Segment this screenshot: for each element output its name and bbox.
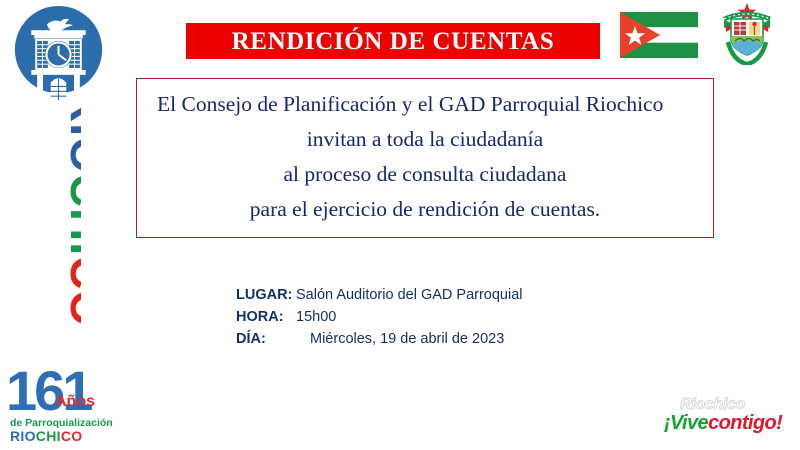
detail-row-dia: DÍA: Miércoles, 19 de abril de 2023 (236, 328, 656, 350)
anniversary-161-logo: 161 Años de Parroquialización RIOCHICO (6, 356, 114, 444)
detail-value-lugar: Salón Auditorio del GAD Parroquial (292, 284, 523, 306)
detail-value-hora: 15h00 (292, 306, 336, 328)
svg-text:RIOCHICO: RIOCHICO (61, 103, 81, 327)
invitation-line-4: para el ejercicio de rendición de cuenta… (153, 192, 697, 227)
slogan-contigo-text: contigo! (708, 412, 782, 434)
detail-row-lugar: LUGAR: Salón Auditorio del GAD Parroquia… (236, 284, 656, 306)
slogan-vive-text: ¡Vive (664, 412, 708, 434)
slogan-tagline: ¡Vivecontigo! (664, 412, 782, 435)
poster-canvas: RIOCHICO 161 Años de Parroquialización R… (0, 0, 800, 450)
detail-label-hora: HORA: (236, 306, 292, 328)
invitation-line-2: invitan a toda la ciudadanía (153, 122, 697, 157)
title-banner: RENDICIÓN DE CUENTAS (186, 23, 600, 59)
invitation-line-1: El Consejo de Planificación y el GAD Par… (153, 87, 697, 122)
riochico-clock-tower-emblem-icon (10, 5, 107, 102)
invitation-line-3: al proceso de consulta ciudadana (153, 157, 697, 192)
riochico-vertical-wordmark: RIOCHICO (29, 103, 81, 348)
svg-text:161: 161 (6, 359, 92, 422)
event-details-block: LUGAR: Salón Auditorio del GAD Parroquia… (236, 284, 656, 350)
manabi-coat-of-arms-icon (714, 2, 780, 65)
invitation-text-box: El Consejo de Planificación y el GAD Par… (136, 78, 714, 238)
svg-text:Años: Años (55, 393, 95, 410)
manabi-province-flag-icon (620, 12, 698, 58)
detail-label-dia: DÍA: (236, 328, 292, 350)
title-banner-text: RENDICIÓN DE CUENTAS (232, 29, 555, 54)
riochico-slogan: Riochico ¡Vivecontigo! (664, 396, 790, 442)
svg-text:RIOCHICO: RIOCHICO (10, 428, 82, 444)
detail-row-hora: HORA: 15h00 (236, 306, 656, 328)
detail-value-dia: Miércoles, 19 de abril de 2023 (292, 328, 504, 350)
riochico-logo-column: RIOCHICO 161 Años de Parroquialización R… (0, 0, 130, 450)
detail-label-lugar: LUGAR: (236, 284, 292, 306)
